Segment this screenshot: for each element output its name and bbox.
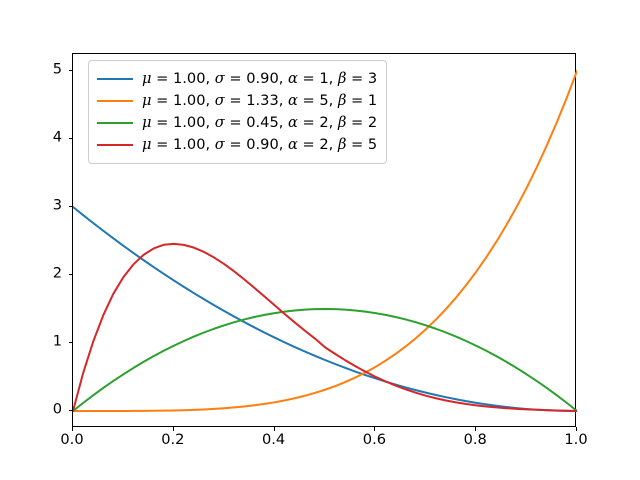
- xtick-label: 0.0: [60, 433, 83, 448]
- ytick-label: 5: [53, 63, 62, 78]
- line-beta-2-5: [73, 244, 577, 411]
- xtick-label: 0.4: [262, 433, 285, 448]
- xtick-mark: [374, 427, 375, 431]
- legend-swatch-beta-1-3: [97, 78, 133, 80]
- xtick-label: 0.8: [464, 433, 487, 448]
- ytick-mark: [69, 138, 73, 139]
- ytick-label: 4: [53, 131, 62, 146]
- ytick-mark: [69, 342, 73, 343]
- legend-swatch-beta-2-2: [97, 122, 133, 124]
- legend-item-beta-2-5[interactable]: μ = 1.00, σ = 0.90, α = 2, β = 5: [97, 134, 377, 156]
- legend-label: μ = 1.00, σ = 0.90, α = 1, β = 3: [142, 72, 377, 87]
- xtick-mark: [72, 427, 73, 431]
- ytick-mark: [69, 274, 73, 275]
- ytick-label: 1: [53, 335, 62, 350]
- legend-label: μ = 1.00, σ = 0.45, α = 2, β = 2: [142, 116, 377, 131]
- matplotlib-figure: 0.00.20.40.60.81.0012345 μ = 1.00, σ = 0…: [0, 0, 640, 480]
- ytick-mark: [69, 70, 73, 71]
- legend-item-beta-5-1[interactable]: μ = 1.00, σ = 1.33, α = 5, β = 1: [97, 90, 377, 112]
- xtick-mark: [576, 427, 577, 431]
- ytick-label: 2: [53, 267, 62, 282]
- xtick-label: 0.2: [161, 433, 184, 448]
- xtick-mark: [475, 427, 476, 431]
- legend-swatch-beta-5-1: [97, 100, 133, 102]
- xtick-label: 1.0: [564, 433, 587, 448]
- ytick-mark: [69, 410, 73, 411]
- legend-item-beta-2-2[interactable]: μ = 1.00, σ = 0.45, α = 2, β = 2: [97, 112, 377, 134]
- ytick-label: 0: [53, 403, 62, 418]
- legend-label: μ = 1.00, σ = 1.33, α = 5, β = 1: [142, 94, 377, 109]
- legend-box[interactable]: μ = 1.00, σ = 0.90, α = 1, β = 3μ = 1.00…: [88, 60, 387, 164]
- xtick-mark: [274, 427, 275, 431]
- legend-label: μ = 1.00, σ = 0.90, α = 2, β = 5: [142, 138, 377, 153]
- xtick-label: 0.6: [363, 433, 386, 448]
- legend-item-beta-1-3[interactable]: μ = 1.00, σ = 0.90, α = 1, β = 3: [97, 68, 377, 90]
- xtick-mark: [173, 427, 174, 431]
- legend-swatch-beta-2-5: [97, 144, 133, 146]
- ytick-label: 3: [53, 199, 62, 214]
- ytick-mark: [69, 206, 73, 207]
